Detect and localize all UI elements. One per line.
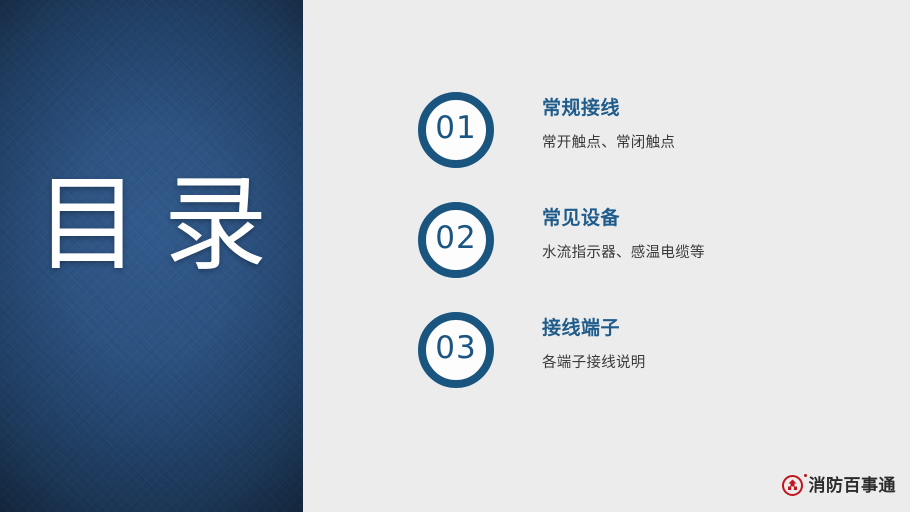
list-item[interactable]: 01 常规接线 常开触点、常闭触点 — [418, 84, 888, 194]
item-subtitle: 各端子接线说明 — [542, 355, 888, 372]
list-item[interactable]: 03 接线端子 各端子接线说明 — [418, 304, 888, 414]
item-title: 常规接线 — [542, 98, 888, 121]
logo-accent-dot — [804, 474, 807, 477]
brand-name: 消防百事通 — [809, 477, 897, 494]
item-text-block: 接线端子 各端子接线说明 — [542, 304, 888, 372]
page-title: 目录 — [0, 168, 303, 284]
content-area: 01 常规接线 常开触点、常闭触点 02 常见设备 水流指示器、感温电缆等 — [303, 0, 910, 512]
item-text-block: 常见设备 水流指示器、感温电缆等 — [542, 194, 888, 262]
brand-logo: 消防百事通 — [782, 475, 897, 496]
badge-number: 02 — [418, 202, 494, 274]
number-badge-01: 01 — [418, 92, 494, 168]
badge-number: 03 — [418, 312, 494, 384]
number-badge-03: 03 — [418, 312, 494, 388]
item-text-block: 常规接线 常开触点、常闭触点 — [542, 84, 888, 152]
number-badge-02: 02 — [418, 202, 494, 278]
left-title-panel: 目录 — [0, 0, 303, 512]
toc-list: 01 常规接线 常开触点、常闭触点 02 常见设备 水流指示器、感温电缆等 — [418, 84, 888, 414]
badge-number: 01 — [418, 92, 494, 164]
item-subtitle: 水流指示器、感温电缆等 — [542, 245, 888, 262]
fire-safety-badge-icon — [782, 475, 803, 496]
slide-root: 目录 01 常规接线 常开触点、常闭触点 02 — [0, 0, 910, 512]
list-item[interactable]: 02 常见设备 水流指示器、感温电缆等 — [418, 194, 888, 304]
item-subtitle: 常开触点、常闭触点 — [542, 135, 888, 152]
item-title: 常见设备 — [542, 208, 888, 231]
item-title: 接线端子 — [542, 318, 888, 341]
